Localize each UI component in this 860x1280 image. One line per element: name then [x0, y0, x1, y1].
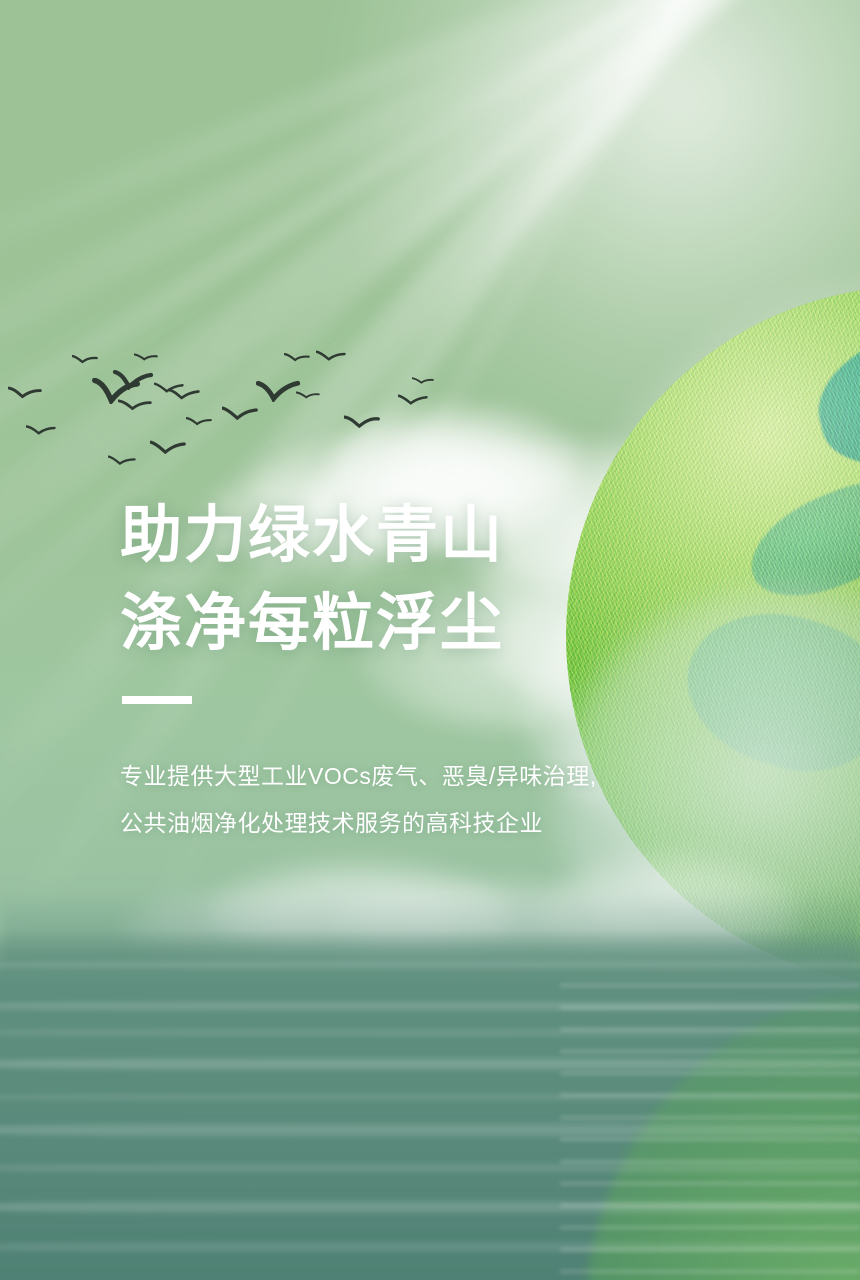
headline-divider [122, 696, 192, 704]
water-ripple [0, 1120, 860, 1140]
bird-icon [222, 406, 258, 423]
water-ripple [0, 1240, 860, 1254]
bird-icon [316, 350, 346, 364]
poster-text-block: 助力绿水青山 涤净每粒浮尘 专业提供大型工业VOCs废气、恶臭/异味治理, 公共… [120, 492, 680, 843]
bird-icon [150, 440, 186, 457]
bird-icon [284, 352, 310, 364]
bird-icon [26, 424, 56, 438]
water-ripple [0, 1092, 860, 1102]
subtitle-line-2: 公共油烟净化处理技术服务的高科技企业 [120, 803, 680, 843]
bird-icon [154, 382, 184, 396]
water-ripple [0, 1028, 860, 1037]
bird-icon [118, 398, 152, 414]
headline-line-1: 助力绿水青山 [120, 492, 680, 580]
bird-icon [256, 380, 300, 402]
water-ripple [0, 960, 860, 970]
water-ripple [0, 1000, 860, 1012]
bird-icon [398, 394, 428, 408]
bird-icon [344, 414, 380, 431]
bird-icon [8, 386, 42, 402]
eco-promo-poster: 助力绿水青山 涤净每粒浮尘 专业提供大型工业VOCs废气、恶臭/异味治理, 公共… [0, 0, 860, 1280]
headline-line-2: 涤净每粒浮尘 [120, 580, 680, 668]
bird-icon [186, 416, 212, 428]
bird-icon [412, 376, 434, 386]
flying-birds-flock [0, 330, 520, 460]
bird-icon [108, 455, 136, 468]
subtitle-line-1: 专业提供大型工业VOCs废气、恶臭/异味治理, [120, 756, 680, 796]
bird-icon [72, 354, 98, 366]
water-ripple [0, 1198, 860, 1216]
water-ripple [0, 1162, 860, 1174]
bird-icon [296, 390, 320, 401]
bird-icon [134, 352, 158, 363]
bird-icon [112, 370, 154, 390]
water-ripple [0, 1056, 860, 1072]
